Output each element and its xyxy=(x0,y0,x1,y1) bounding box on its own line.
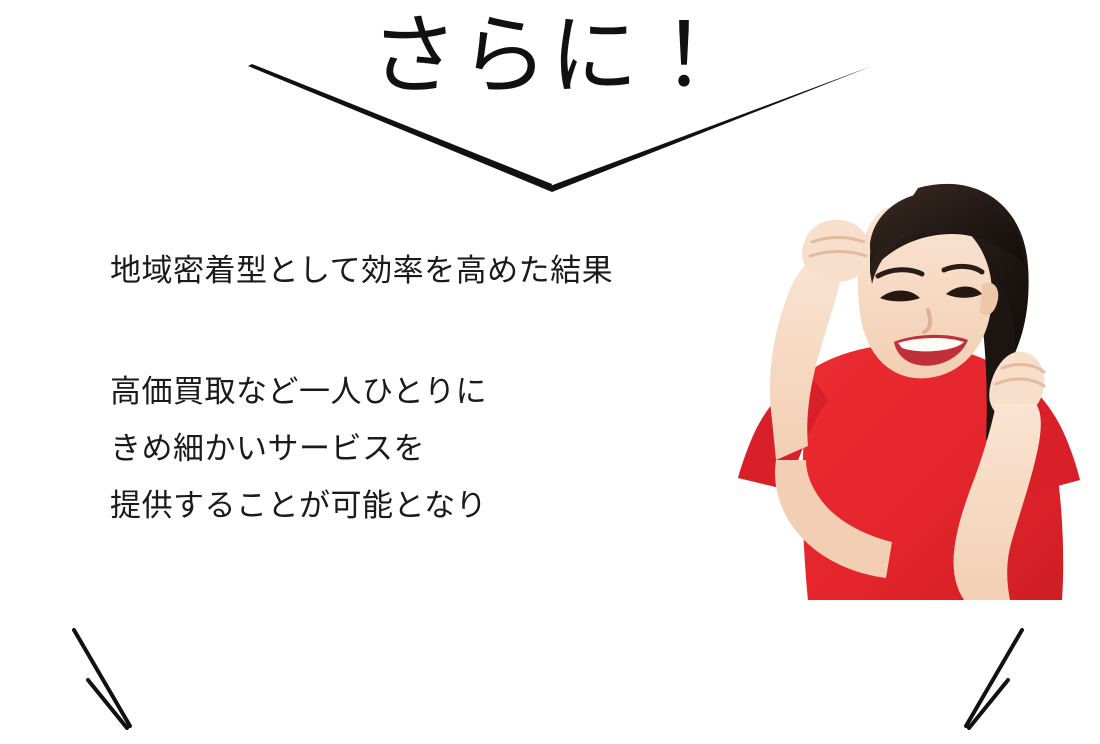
banner-root: さらに！ 地域密着型として効率を高めた結果 高価買取など一人ひとりに きめ細かい… xyxy=(0,0,1100,744)
body-line-3: 提供することが可能となり xyxy=(110,478,730,535)
model-photo xyxy=(680,160,1100,600)
left-emphasis-slashes-icon xyxy=(58,612,148,736)
body-lead-line: 地域密着型として効率を高めた結果 xyxy=(110,248,730,294)
body-copy: 地域密着型として効率を高めた結果 高価買取など一人ひとりに きめ細かいサービスを… xyxy=(110,248,730,535)
bottom-headline: 満足度が 圧倒的 に高い xyxy=(0,580,1100,744)
top-headline: さらに！ xyxy=(0,6,1100,106)
body-line-2: きめ細かいサービスを xyxy=(110,421,730,478)
body-line-1: 高価買取など一人ひとりに xyxy=(110,364,730,421)
right-emphasis-slashes-icon xyxy=(948,612,1038,736)
body-line-list: 高価買取など一人ひとりに きめ細かいサービスを 提供することが可能となり xyxy=(110,364,730,535)
